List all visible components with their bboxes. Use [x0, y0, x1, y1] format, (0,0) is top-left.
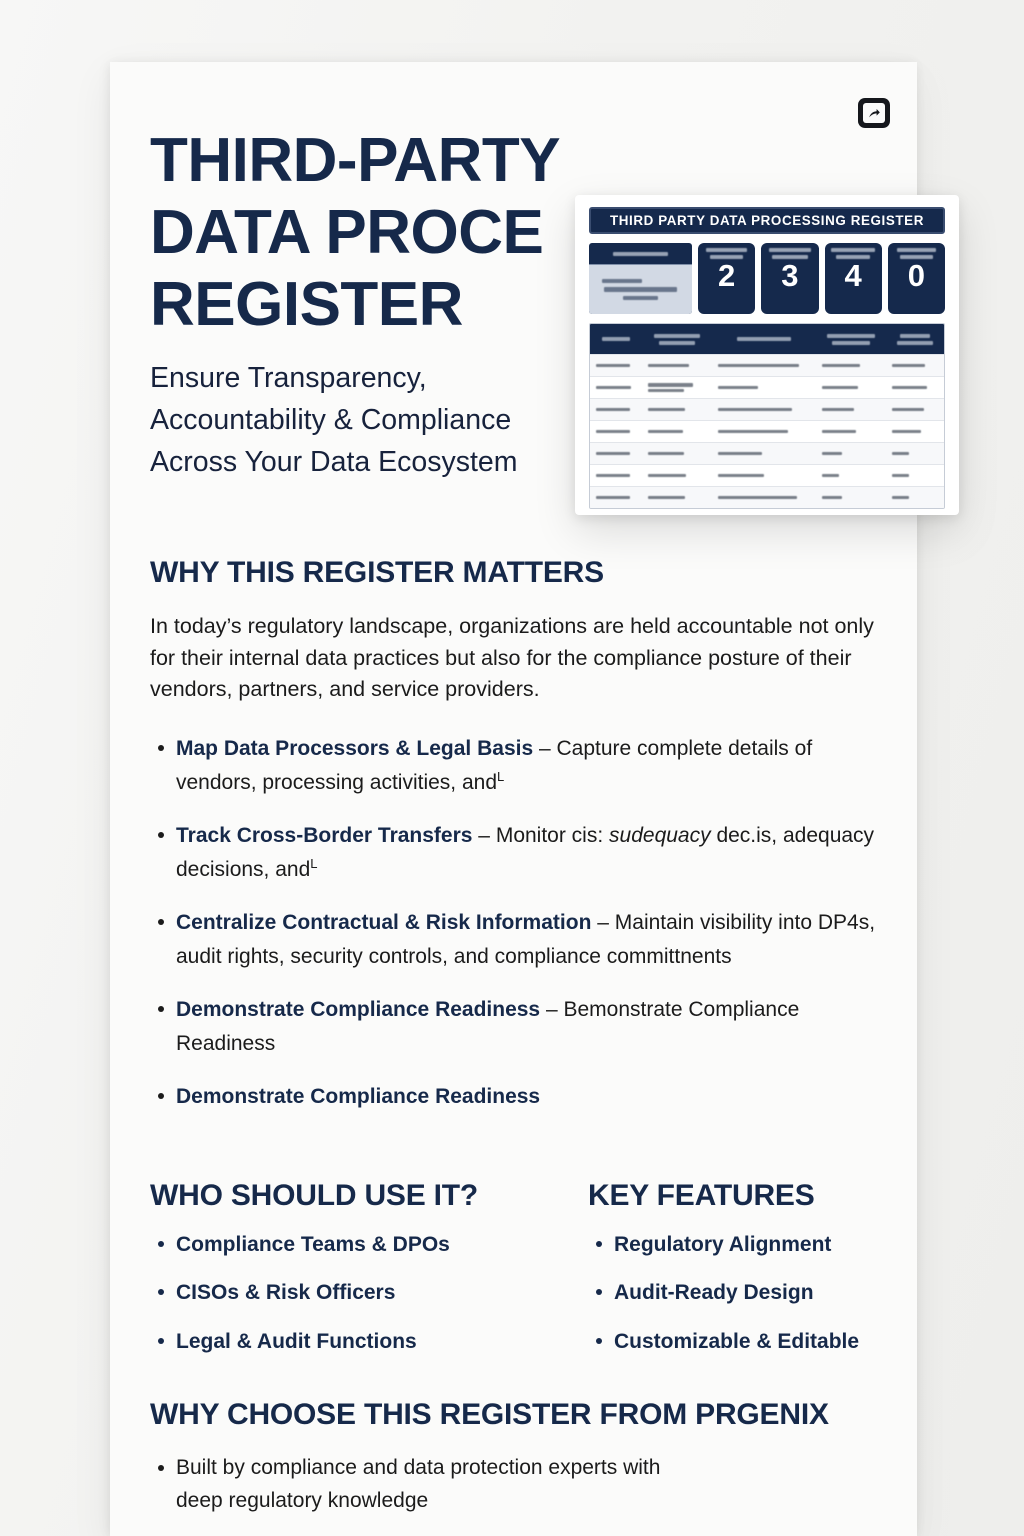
stat-tile: 4 [825, 243, 882, 314]
why-matters-paragraph: In today’s regulatory landscape, organiz… [150, 611, 888, 706]
bullet-title: Demonstrate Compliance Readiness [176, 998, 540, 1021]
preview-register-table [589, 323, 945, 509]
list-item: Legal & Audit Functions [150, 1328, 588, 1355]
stat-tile-label [765, 248, 814, 259]
section-key-features: KEY FEATURES Regulatory Alignment Audit-… [588, 1179, 890, 1376]
stat-tile-value: 4 [845, 260, 862, 291]
preview-stats-row: 2 3 4 [589, 243, 945, 314]
list-item: Built by compliance and data protection … [150, 1452, 710, 1517]
register-preview-card[interactable]: THIRD PARTY DATA PROCESSING REGISTER [575, 195, 959, 515]
section-audience-and-features: WHO SHOULD USE IT? Compliance Teams & DP… [150, 1179, 890, 1376]
table-row [590, 420, 944, 442]
table-row [590, 464, 944, 486]
stat-tile-label [702, 248, 751, 259]
mini-panel-body [589, 264, 692, 314]
page-subtitle: Ensure Transparency, Accountability & Co… [150, 358, 620, 484]
stat-tile-value: 2 [718, 260, 735, 291]
section-heading-who-should-use: WHO SHOULD USE IT? [150, 1179, 588, 1213]
table-row [590, 376, 944, 398]
table-column-header [816, 334, 886, 345]
stat-tile-label [829, 248, 878, 259]
preview-card-header: THIRD PARTY DATA PROCESSING REGISTER [589, 207, 945, 234]
bullet-trailing-mark: L [310, 856, 317, 871]
list-item: Centralize Contractual & Risk Informatio… [150, 906, 888, 974]
list-item: Compliance Teams & DPOs [150, 1231, 588, 1258]
table-column-header [886, 334, 944, 345]
bullet-title: Map Data Processors & Legal Basis [176, 737, 533, 760]
bullet-dash: – [472, 824, 495, 847]
list-item: Map Data Processors & Legal Basis – Capt… [150, 732, 888, 800]
stat-tile-value: 3 [781, 260, 798, 291]
document-page: THIRD-PARTY DATA PROCE REGISTER Ensure T… [110, 62, 917, 1536]
list-item: Track Cross-Border Transfers – Monitor c… [150, 819, 888, 887]
bullet-title: Demonstrate Compliance Readiness [176, 1085, 540, 1108]
subtitle-line-3: Across Your Data Ecosystem [150, 442, 620, 484]
key-features-list: Regulatory Alignment Audit-Ready Design … [588, 1231, 890, 1355]
why-choose-list: Built by compliance and data protection … [150, 1452, 910, 1517]
bullet-dash: – [540, 998, 563, 1021]
list-item: CISOs & Risk Officers [150, 1279, 588, 1306]
table-column-header [712, 337, 816, 341]
list-item: Regulatory Alignment [588, 1231, 890, 1258]
bullet-title: Track Cross-Border Transfers [176, 824, 472, 847]
bullet-title: Centralize Contractual & Risk Informatio… [176, 911, 591, 934]
bullet-text-pre: Monitor cis: [496, 824, 609, 847]
table-row [590, 398, 944, 420]
section-why-choose: WHY CHOOSE THIS REGISTER FROM PRGENIX Bu… [150, 1398, 910, 1517]
table-header-row [590, 324, 944, 354]
subtitle-line-1: Ensure Transparency, [150, 358, 620, 400]
bullet-text-italic: sudequacy [609, 824, 711, 847]
title-line-1: THIRD-PARTY [150, 125, 710, 197]
stat-tile-value: 0 [908, 260, 925, 291]
table-row [590, 486, 944, 508]
mini-panel-header [589, 243, 692, 264]
stat-tile: 3 [761, 243, 818, 314]
list-item: Audit-Ready Design [588, 1279, 890, 1306]
bullet-trailing-mark: L [497, 769, 504, 784]
section-heading-why-choose: WHY CHOOSE THIS REGISTER FROM PRGENIX [150, 1398, 910, 1432]
stat-tile-label [892, 248, 941, 259]
stat-tile: 2 [698, 243, 755, 314]
section-heading-why-matters: WHY THIS REGISTER MATTERS [150, 556, 888, 590]
section-why-matters: WHY THIS REGISTER MATTERS In today’s reg… [150, 556, 888, 1133]
share-arrow-badge[interactable] [858, 98, 890, 128]
list-item: Demonstrate Compliance Readiness – Bemon… [150, 993, 888, 1061]
list-item: Demonstrate Compliance Readiness [150, 1080, 888, 1114]
table-row [590, 442, 944, 464]
stat-tile: 0 [888, 243, 945, 314]
table-column-header [642, 334, 712, 345]
section-heading-key-features: KEY FEATURES [588, 1179, 890, 1213]
share-arrow-icon [863, 103, 885, 123]
list-item: Customizable & Editable [588, 1328, 890, 1355]
subtitle-line-2: Accountability & Compliance [150, 400, 620, 442]
why-matters-bullet-list: Map Data Processors & Legal Basis – Capt… [150, 732, 888, 1114]
table-row [590, 354, 944, 376]
section-who-should-use: WHO SHOULD USE IT? Compliance Teams & DP… [150, 1179, 588, 1376]
table-column-header [590, 337, 642, 341]
bullet-dash: – [591, 911, 614, 934]
preview-mini-panel [589, 243, 692, 314]
bullet-dash: – [533, 737, 556, 760]
who-should-use-list: Compliance Teams & DPOs CISOs & Risk Off… [150, 1231, 588, 1355]
